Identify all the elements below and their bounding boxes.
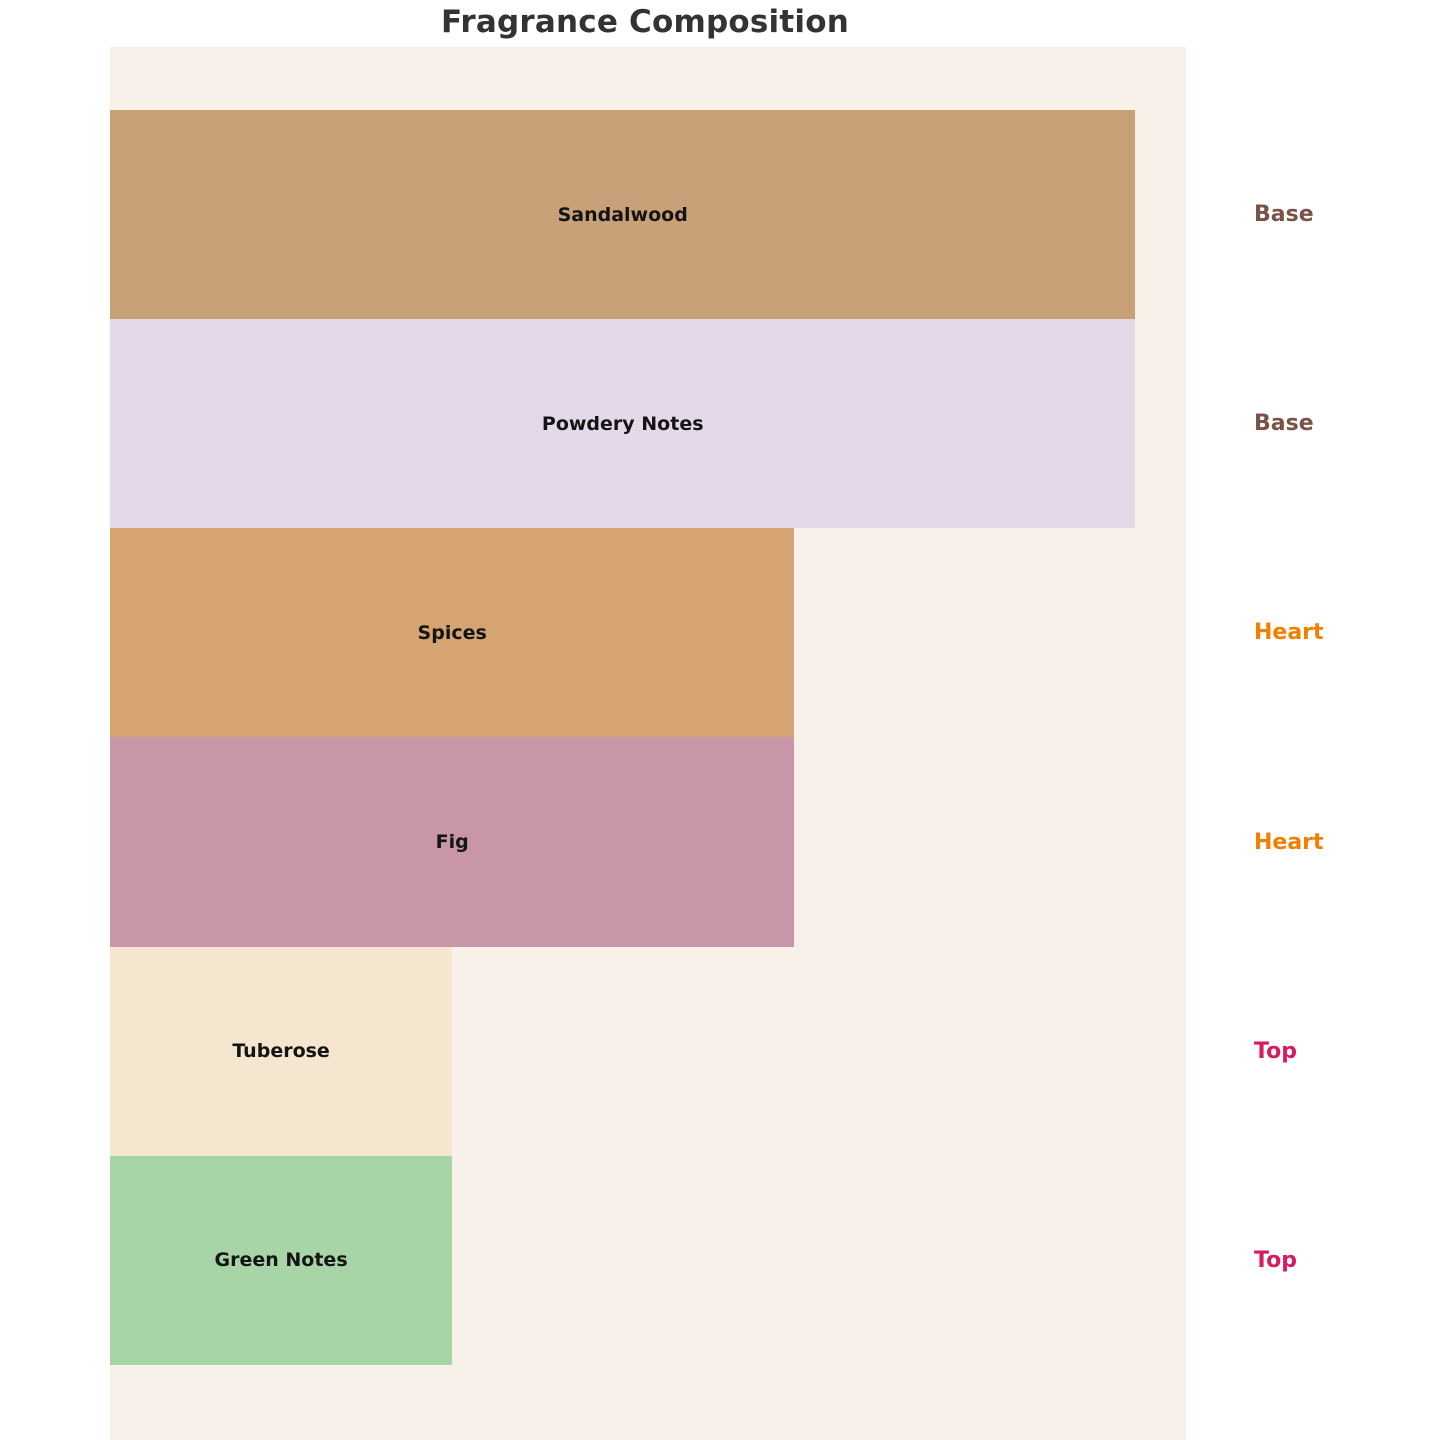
stage-label-top: Top <box>1254 1248 1297 1273</box>
stage-label-heart: Heart <box>1254 830 1324 855</box>
stage-label-top: Top <box>1254 1039 1297 1064</box>
stage-row: Heart <box>1186 528 1440 737</box>
bars-layer: SandalwoodPowdery NotesSpicesFigTuberose… <box>110 110 1186 1365</box>
bar-sandalwood[interactable]: Sandalwood <box>110 110 1135 319</box>
bar-row: Tuberose <box>110 947 1186 1156</box>
bar-label: Sandalwood <box>558 204 688 226</box>
bar-powdery-notes[interactable]: Powdery Notes <box>110 319 1135 528</box>
bar-label: Powdery Notes <box>542 413 704 435</box>
stage-row: Top <box>1186 947 1440 1156</box>
bar-label: Green Notes <box>215 1249 348 1271</box>
figure-canvas: Fragrance Composition SandalwoodPowdery … <box>0 0 1440 1440</box>
stage-row: Base <box>1186 110 1440 319</box>
stage-row: Heart <box>1186 737 1440 946</box>
bar-row: Powdery Notes <box>110 319 1186 528</box>
bar-tuberose[interactable]: Tuberose <box>110 947 452 1156</box>
bar-row: Spices <box>110 528 1186 737</box>
plot-area: SandalwoodPowdery NotesSpicesFigTuberose… <box>110 47 1186 1440</box>
stage-label-base: Base <box>1254 202 1314 227</box>
bar-row: Green Notes <box>110 1156 1186 1365</box>
bar-fig[interactable]: Fig <box>110 737 794 946</box>
bar-row: Fig <box>110 737 1186 946</box>
bar-label: Tuberose <box>232 1040 330 1062</box>
bar-green-notes[interactable]: Green Notes <box>110 1156 452 1365</box>
bar-spices[interactable]: Spices <box>110 528 794 737</box>
stage-label-heart: Heart <box>1254 620 1324 645</box>
bar-label: Spices <box>418 622 487 644</box>
bar-row: Sandalwood <box>110 110 1186 319</box>
bar-label: Fig <box>436 831 469 853</box>
stage-row: Top <box>1186 1156 1440 1365</box>
chart-title: Fragrance Composition <box>0 4 1290 40</box>
stage-row: Base <box>1186 319 1440 528</box>
stage-label-base: Base <box>1254 411 1314 436</box>
stage-label-column: BaseBaseHeartHeartTopTop <box>1186 110 1440 1365</box>
